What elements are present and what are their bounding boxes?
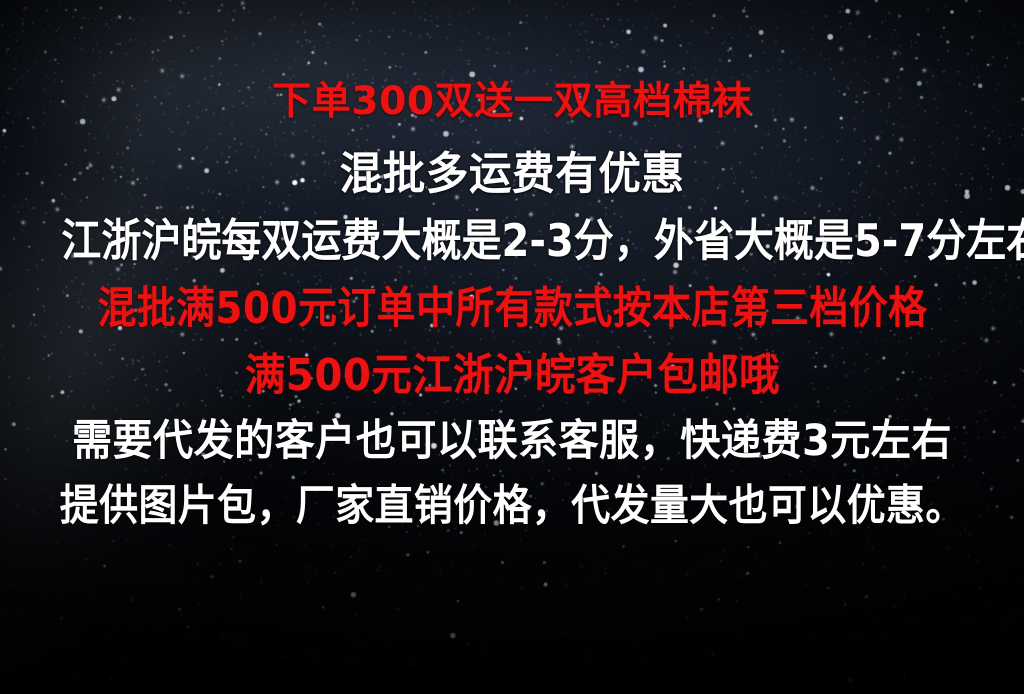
promo-line-2: 混批多运费有优惠 [0, 151, 1024, 196]
promo-line-6: 需要代发的客户也可以联系客服，快递费3元左右 [0, 420, 1024, 463]
promo-line-7: 提供图片包，厂家直销价格，代发量大也可以优惠。 [0, 485, 1024, 528]
promo-line-1: 下单300双送一双高档棉袜 [0, 82, 1024, 121]
promo-banner: 下单300双送一双高档棉袜 混批多运费有优惠 江浙沪皖每双运费大概是2-3分，外… [0, 0, 1024, 694]
promo-line-5: 满500元江浙沪皖客户包邮哦 [0, 354, 1024, 398]
promo-line-3: 江浙沪皖每双运费大概是2-3分，外省大概是5-7分左右 [0, 218, 1024, 263]
promo-line-4: 混批满500元订单中所有款式按本店第三档价格 [0, 287, 1024, 331]
promo-text-block: 下单300双送一双高档棉袜 混批多运费有优惠 江浙沪皖每双运费大概是2-3分，外… [0, 0, 1024, 694]
